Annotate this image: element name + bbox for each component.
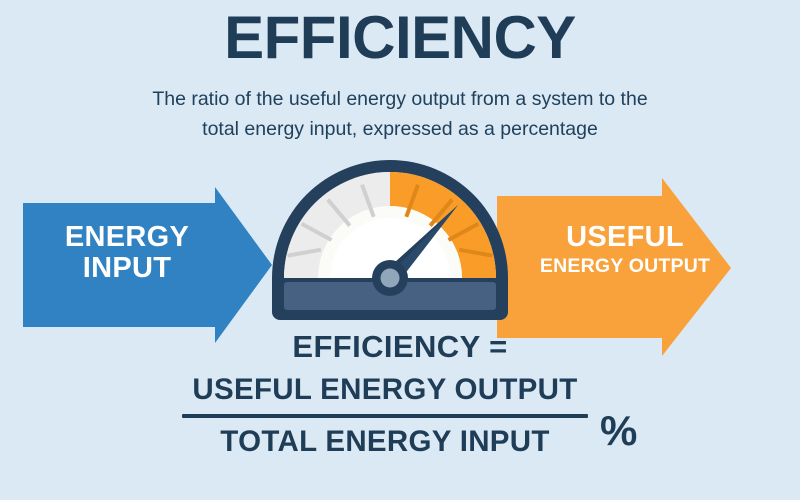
- efficiency-gauge: [262, 160, 518, 325]
- useful-energy-output-label-line-2: ENERGY OUTPUT: [520, 256, 730, 277]
- efficiency-formula: EFFICIENCY = USEFUL ENERGY OUTPUT TOTAL …: [0, 328, 800, 492]
- formula-heading: EFFICIENCY =: [0, 328, 800, 366]
- subtitle-line-1: The ratio of the useful energy output fr…: [152, 88, 647, 110]
- page-title: EFFICIENCY: [0, 6, 800, 70]
- energy-input-label-line-1: ENERGY: [65, 221, 189, 253]
- formula-denominator: TOTAL ENERGY INPUT: [182, 422, 588, 462]
- useful-energy-output-label-line-1: USEFUL: [520, 222, 730, 253]
- formula-fraction: USEFUL ENERGY OUTPUT TOTAL ENERGY INPUT: [182, 370, 588, 462]
- formula-fraction-row: USEFUL ENERGY OUTPUT TOTAL ENERGY INPUT …: [0, 366, 800, 492]
- energy-input-label-line-2: INPUT: [83, 252, 172, 284]
- formula-numerator: USEFUL ENERGY OUTPUT: [182, 370, 588, 410]
- formula-fraction-bar: [182, 414, 588, 418]
- energy-input-label: ENERGY INPUT: [34, 222, 220, 283]
- subtitle-line-2: total energy input, expressed as a perce…: [202, 118, 598, 140]
- formula-percent-sign: %: [600, 408, 637, 454]
- gauge-hub-inner: [381, 269, 400, 288]
- infographic-canvas: EFFICIENCY The ratio of the useful energ…: [0, 0, 800, 500]
- page-subtitle: The ratio of the useful energy output fr…: [40, 84, 760, 144]
